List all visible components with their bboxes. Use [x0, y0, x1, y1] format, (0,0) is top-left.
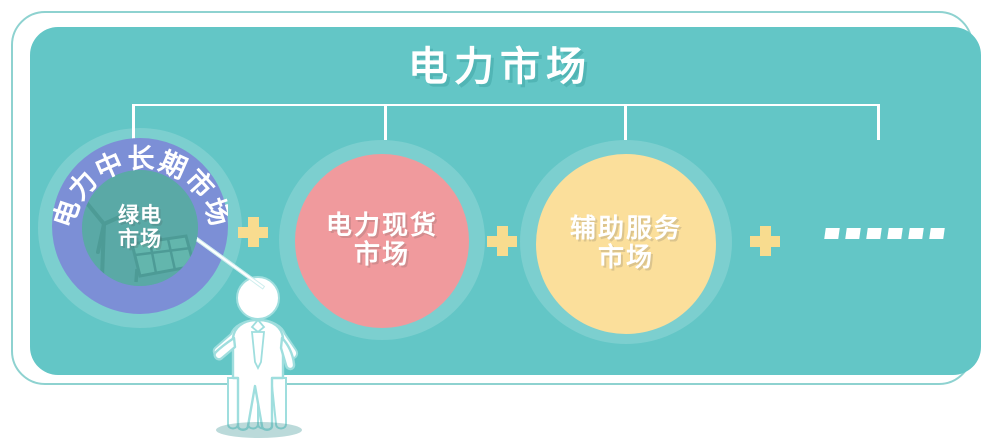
node2-label-line2: 市场: [354, 240, 410, 270]
node1-curved-label: 电力中长期市场: [52, 138, 228, 314]
diagram-canvas: 电力市场: [0, 0, 1000, 439]
ellipsis-square: [824, 228, 840, 239]
bracket-drop-4: [877, 104, 880, 140]
plus-separator-3: [750, 226, 780, 256]
page-title: 电力市场: [0, 34, 1000, 92]
node2-label: 电力现货 市场: [326, 212, 438, 270]
bracket-horizontal-line: [132, 104, 880, 106]
node3-label: 辅助服务 市场: [570, 215, 682, 273]
ellipsis-square: [887, 228, 903, 239]
node-ancillary-services-market[interactable]: 辅助服务 市场: [528, 146, 724, 342]
bracket-drop-3: [624, 104, 627, 140]
ellipsis-more: [825, 228, 944, 239]
ellipsis-square: [845, 228, 861, 239]
node1-curved-label-text: 电力中长期市场: [52, 144, 228, 232]
node-electricity-mid-long-term-market[interactable]: 绿电 市场 电力中长期市场: [48, 136, 232, 320]
node3-label-line1: 辅助服务: [570, 214, 682, 244]
figure-shadow: [216, 422, 302, 438]
node3-circle[interactable]: 辅助服务 市场: [536, 154, 716, 334]
plus-separator-1: [238, 217, 268, 247]
node2-label-line1: 电力现货: [326, 211, 438, 241]
ellipsis-square: [908, 228, 924, 239]
ellipsis-square: [929, 228, 945, 239]
plus-separator-2: [487, 226, 517, 256]
node3-label-line2: 市场: [598, 243, 654, 273]
node2-circle[interactable]: 电力现货 市场: [295, 154, 469, 328]
bracket-drop-2: [384, 104, 387, 140]
ellipsis-square: [866, 228, 882, 239]
